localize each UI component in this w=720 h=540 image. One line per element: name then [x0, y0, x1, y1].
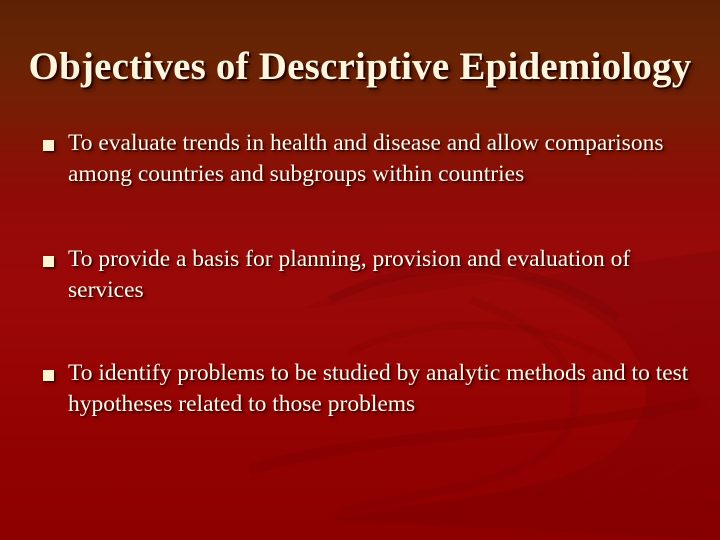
presentation-slide: Objectives of Descriptive Epidemiology T… [0, 0, 720, 540]
list-item: To provide a basis for planning, provisi… [40, 244, 700, 306]
list-item-text: To identify problems to be studied by an… [68, 358, 700, 420]
list-item: To evaluate trends in health and disease… [40, 128, 700, 190]
filled-square-bullet-icon [43, 256, 54, 267]
objectives-bullet-list: To evaluate trends in health and disease… [40, 128, 700, 420]
list-item-text: To provide a basis for planning, provisi… [68, 244, 700, 306]
filled-square-bullet-icon [43, 140, 54, 151]
title-band: Objectives of Descriptive Epidemiology [0, 44, 720, 89]
page-title: Objectives of Descriptive Epidemiology [29, 44, 692, 89]
list-item-text: To evaluate trends in health and disease… [68, 128, 700, 190]
filled-square-bullet-icon [43, 370, 54, 381]
list-item: To identify problems to be studied by an… [40, 358, 700, 420]
